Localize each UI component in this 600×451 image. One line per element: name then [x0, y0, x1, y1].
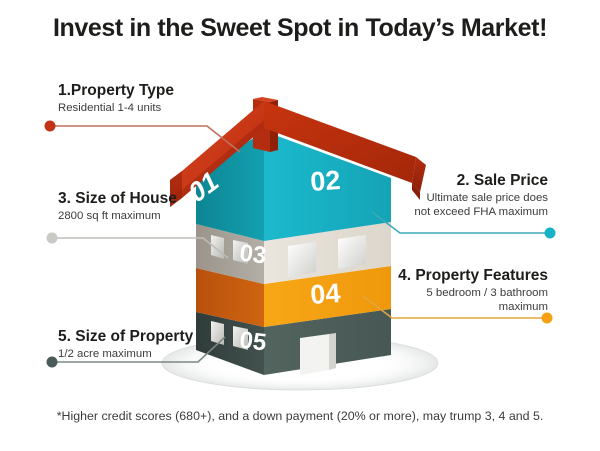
callout-sub-line: 2800 sq ft maximum: [58, 210, 177, 224]
infographic-canvas: Invest in the Sweet Spot in Today’s Mark…: [0, 0, 600, 451]
dot-size-of-property: [47, 357, 58, 368]
connector-size-of-house: [47, 233, 229, 259]
callout-heading: 4. Property Features: [398, 267, 548, 284]
footnote: *Higher credit scores (680+), and a down…: [0, 409, 600, 423]
callout-sub-line: 1/2 acre maximum: [58, 348, 193, 362]
dot-property-type: [45, 121, 56, 132]
callout-sub-line: 5 bedroom / 3 bathroom: [398, 287, 548, 301]
dot-size-of-house: [47, 233, 58, 244]
callout-heading: 3. Size of House: [58, 190, 177, 207]
connector-lines: [0, 0, 600, 451]
callout-sub-line: maximum: [398, 301, 548, 315]
callout-sub-line: Residential 1-4 units: [58, 102, 174, 116]
dot-sale-price: [545, 228, 556, 239]
callout-size-of-property: 5. Size of Property 1/2 acre maximum: [58, 328, 193, 362]
callout-sub-line: Ultimate sale price does: [414, 192, 548, 206]
callout-heading: 5. Size of Property: [58, 328, 193, 345]
connector-property-type: [45, 121, 241, 153]
callout-heading: 1.Property Type: [58, 82, 174, 99]
callout-sale-price: 2. Sale Price Ultimate sale price does n…: [414, 172, 548, 220]
callout-sub-line: not exceed FHA maximum: [414, 206, 548, 220]
callout-heading: 2. Sale Price: [414, 172, 548, 189]
callout-size-of-house: 3. Size of House 2800 sq ft maximum: [58, 190, 177, 224]
callout-property-features: 4. Property Features 5 bedroom / 3 bathr…: [398, 267, 548, 315]
callout-property-type: 1.Property Type Residential 1-4 units: [58, 82, 174, 116]
